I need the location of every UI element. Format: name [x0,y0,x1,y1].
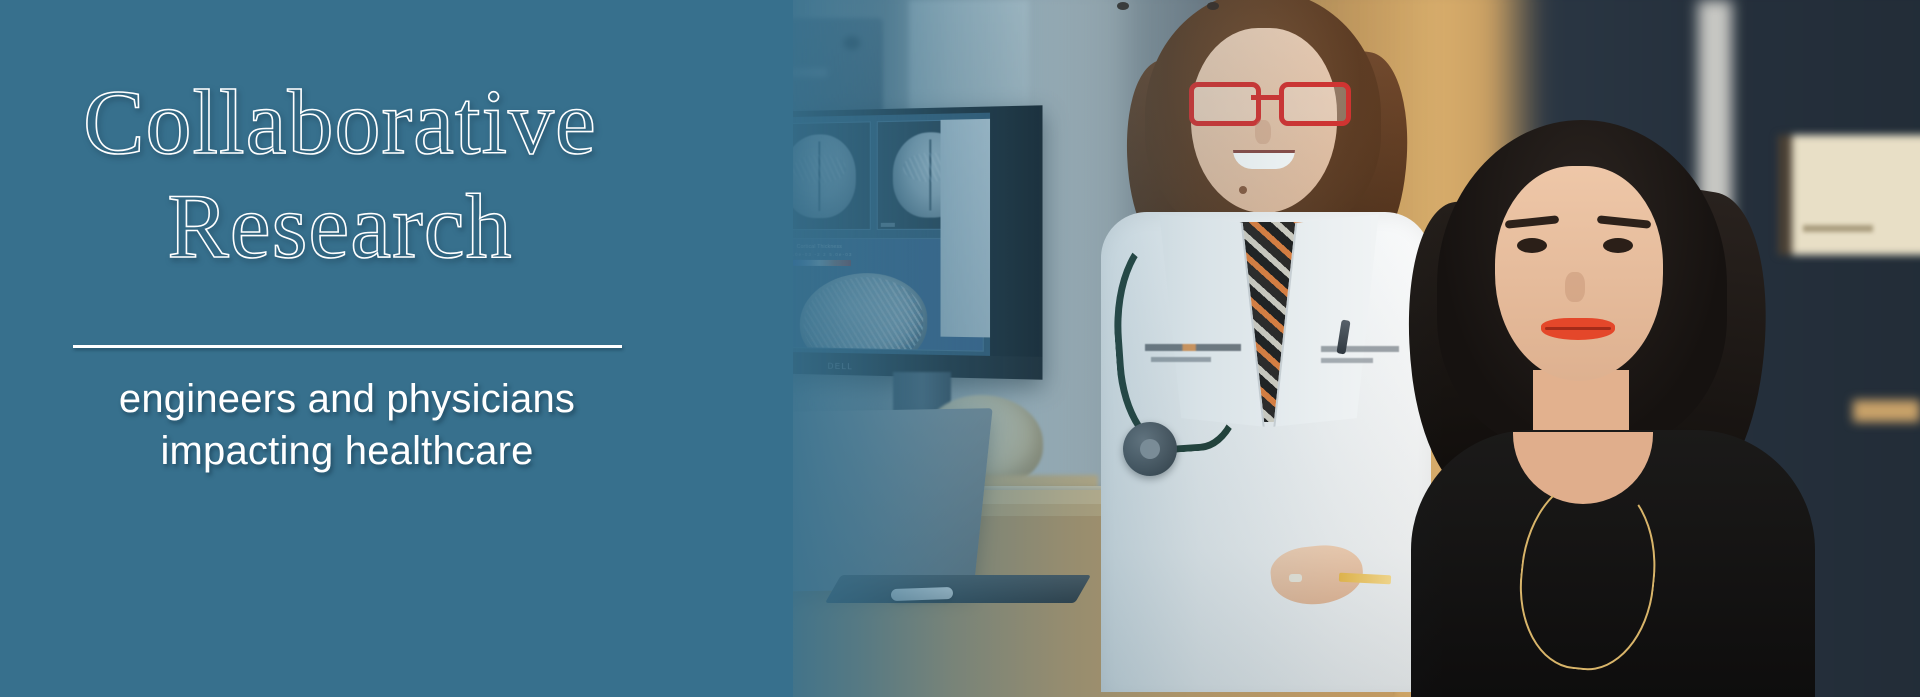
cabinet-knob [843,36,860,50]
lab-coat-embroidered-logo [1145,342,1241,370]
finger-ring [1289,574,1302,582]
colorbar [793,260,851,266]
researcher-lips [1541,318,1615,340]
divider-rule [73,345,622,348]
eyeglass-lens-right [1279,82,1351,126]
laptop-lid [793,408,993,592]
mri-slice [793,121,871,230]
physician-nose [1255,120,1271,144]
lab-coat-name-embroidery [1321,346,1399,370]
eyeglass-lens-left [1189,82,1261,126]
physician-mole [1239,186,1247,194]
researcher-eye-left [1517,238,1547,253]
teal-text-panel: Collaborative Research engineers and phy… [0,0,793,697]
desktop-monitor: Cortical Thickness -5.0e-03 -2 2 5.0e-03… [793,105,1043,379]
researcher-nose [1565,272,1585,302]
equipment-cabinet [793,18,883,123]
physician-smile [1233,150,1295,169]
brain-surface-render [800,273,927,352]
person-researcher [1393,120,1873,697]
stethoscope-chestpiece [1123,422,1177,476]
banner-headline: Collaborative Research [0,70,680,278]
physician-eye-right [1207,2,1219,10]
eyeglasses [1189,82,1341,116]
stylus-pen [891,587,953,601]
monitor-screen: Cortical Thickness -5.0e-03 -2 2 5.0e-03 [793,113,990,358]
screen-sidebar-panel [941,119,991,338]
hero-banner: Cortical Thickness -5.0e-03 -2 2 5.0e-03… [0,0,1920,697]
eyeglass-bridge [1251,95,1279,100]
researcher-eye-right [1603,238,1633,253]
physician-eye-left [1117,2,1129,10]
name-line-2 [1321,358,1373,363]
brain-slice-image [793,134,856,219]
logo-wordmark [1145,344,1241,351]
banner-subheadline: engineers and physicians impacting healt… [0,373,694,477]
name-line-1 [1321,346,1399,352]
laptop-base [825,575,1091,603]
monitor-brand-label: DELL [828,362,854,372]
cabinet-label [793,68,827,77]
hero-photo: Cortical Thickness -5.0e-03 -2 2 5.0e-03… [793,0,1920,697]
mri-slice-tag [881,223,895,227]
logo-subtext [1151,357,1211,362]
